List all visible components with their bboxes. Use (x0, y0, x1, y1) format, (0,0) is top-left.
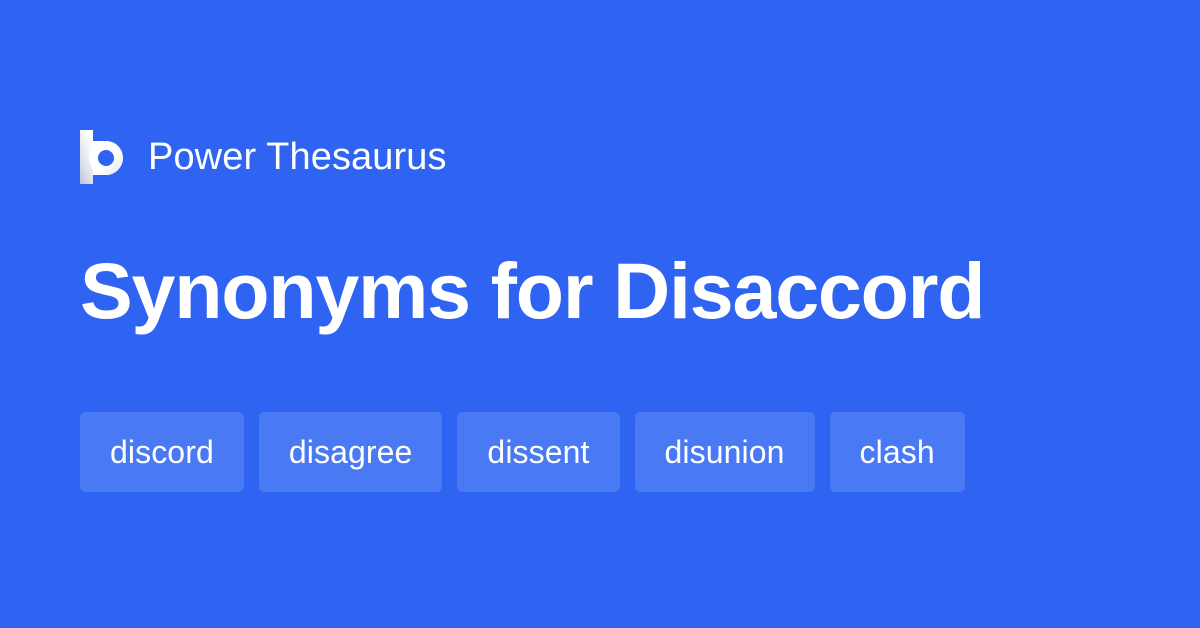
synonym-chip[interactable]: clash (830, 412, 965, 492)
page-title: Synonyms for Disaccord (80, 248, 984, 335)
synonym-chip-label: discord (110, 436, 214, 468)
brand-lockup[interactable]: Power Thesaurus (80, 126, 447, 188)
synonym-chip-label: disunion (665, 436, 785, 468)
synonym-chip[interactable]: dissent (457, 412, 619, 492)
brand-name: Power Thesaurus (148, 138, 447, 176)
synonym-chip[interactable]: disagree (259, 412, 443, 492)
synonym-chip-label: disagree (289, 436, 413, 468)
synonym-chip-label: dissent (487, 436, 589, 468)
synonym-chip[interactable]: discord (80, 412, 244, 492)
synonym-chip-label: clash (860, 436, 935, 468)
synonym-chip-list: discord disagree dissent disunion clash (80, 412, 965, 492)
share-card: Power Thesaurus Synonyms for Disaccord d… (0, 0, 1200, 628)
power-thesaurus-b-logo-icon (80, 130, 126, 184)
synonym-chip[interactable]: disunion (635, 412, 815, 492)
